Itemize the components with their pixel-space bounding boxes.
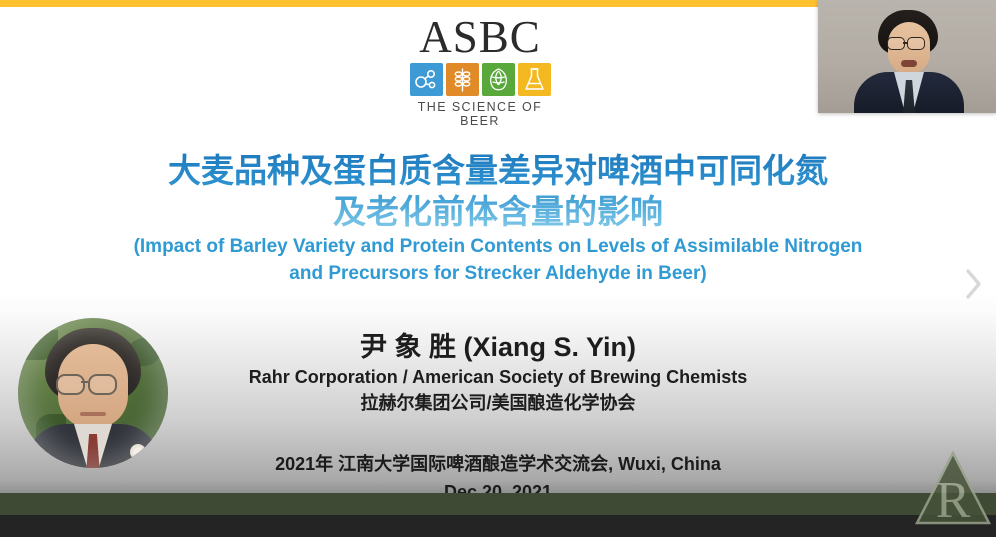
flask-icon bbox=[518, 63, 551, 96]
asbc-icon-row bbox=[404, 63, 556, 96]
portrait-vignette bbox=[18, 318, 168, 468]
asbc-tagline: THE SCIENCE OF BEER bbox=[404, 100, 556, 128]
slide-title-chinese: 大麦品种及蛋白质含量差异对啤酒中可同化氮 及老化前体含量的影响 bbox=[0, 150, 996, 232]
svg-text:R: R bbox=[936, 472, 971, 529]
speaker-webcam-video[interactable] bbox=[818, 0, 996, 113]
rahr-logo-watermark: R bbox=[914, 449, 992, 537]
webcam-eyeglass-bridge bbox=[903, 42, 908, 44]
molecule-icon bbox=[410, 63, 443, 96]
hop-cone-icon bbox=[482, 63, 515, 96]
title-en-line-1: (Impact of Barley Variety and Protein Co… bbox=[0, 233, 996, 260]
next-slide-chevron[interactable] bbox=[960, 262, 986, 306]
title-en-line-2: and Precursors for Strecker Aldehyde in … bbox=[0, 260, 996, 287]
bottom-green-band bbox=[0, 493, 996, 515]
top-accent-bar bbox=[0, 0, 818, 7]
bottom-dark-strip bbox=[0, 515, 996, 537]
barley-icon bbox=[446, 63, 479, 96]
presenter-portrait-photo bbox=[18, 318, 168, 468]
webcam-speaker-mouth bbox=[901, 60, 917, 67]
asbc-wordmark: ASBC bbox=[404, 14, 556, 60]
title-cn-line-2: 及老化前体含量的影响 bbox=[0, 191, 996, 232]
presentation-viewer: ASBC bbox=[0, 0, 996, 537]
webcam-eyeglass-right bbox=[907, 37, 925, 50]
slide-subtitle-english: (Impact of Barley Variety and Protein Co… bbox=[0, 233, 996, 287]
asbc-logo: ASBC bbox=[404, 14, 556, 126]
title-cn-line-1: 大麦品种及蛋白质含量差异对啤酒中可同化氮 bbox=[0, 150, 996, 191]
